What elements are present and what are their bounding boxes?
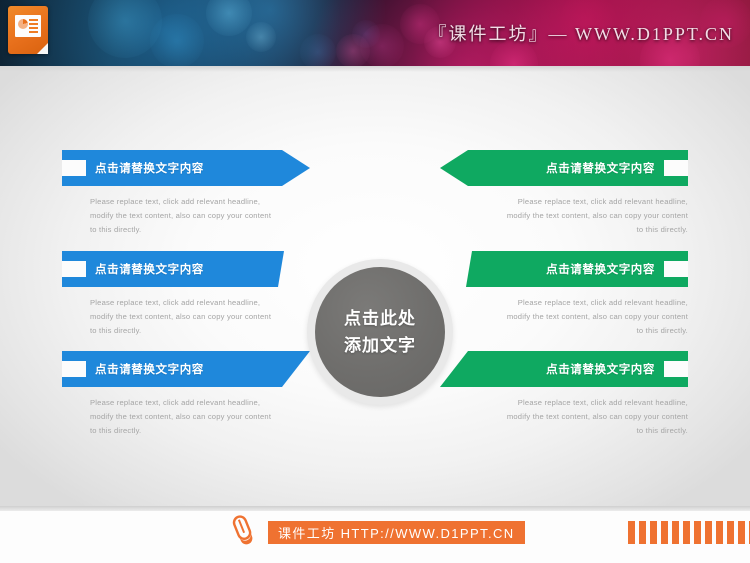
right-notch-1 (664, 160, 688, 176)
center-circle-ring: 点击此处 添加文字 (307, 259, 453, 405)
footer-stripes-decoration (628, 521, 750, 544)
footer-url-bar[interactable]: 课件工坊 HTTP://WWW.D1PPT.CN (268, 521, 525, 544)
footer-url-text: 课件工坊 HTTP://WWW.D1PPT.CN (278, 523, 515, 542)
logo-lines-icon (29, 19, 38, 33)
left-item-1[interactable]: 点击请替换文字内容 Please replace text, click add… (62, 150, 310, 237)
right-notch-3 (664, 361, 688, 377)
right-banner-1[interactable]: 点击请替换文字内容 (440, 150, 688, 186)
center-circle[interactable]: 点击此处 添加文字 (315, 267, 445, 397)
bokeh-decoration (206, 0, 252, 36)
left-banner-3[interactable]: 点击请替换文字内容 (62, 351, 310, 387)
bokeh-decoration (88, 0, 162, 58)
bokeh-decoration (336, 34, 370, 66)
powerpoint-logo-icon (8, 6, 48, 54)
right-banner-3[interactable]: 点击请替换文字内容 (440, 351, 688, 387)
right-desc-3: Please replace text, click add relevant … (506, 396, 688, 438)
bokeh-decoration (300, 34, 336, 66)
header-title: 『课件工坊』— WWW.D1PPT.CN (429, 20, 735, 46)
bokeh-decoration (360, 24, 404, 66)
bokeh-decoration (150, 14, 204, 66)
left-notch-3 (62, 361, 86, 377)
left-banner-1-label: 点击请替换文字内容 (95, 160, 204, 176)
right-notch-2 (664, 261, 688, 277)
left-banner-2-label: 点击请替换文字内容 (95, 261, 204, 277)
header-banner: 『课件工坊』— WWW.D1PPT.CN (0, 0, 750, 66)
logo-document-icon (15, 15, 41, 37)
right-banner-1-label: 点击请替换文字内容 (546, 160, 655, 176)
right-desc-2: Please replace text, click add relevant … (506, 296, 688, 338)
left-banner-1[interactable]: 点击请替换文字内容 (62, 150, 310, 186)
right-item-3[interactable]: 点击请替换文字内容 Please replace text, click add… (440, 351, 688, 438)
right-item-2[interactable]: 点击请替换文字内容 Please replace text, click add… (440, 251, 688, 338)
left-desc-1: Please replace text, click add relevant … (90, 195, 272, 237)
left-desc-3: Please replace text, click add relevant … (90, 396, 272, 438)
left-item-3[interactable]: 点击请替换文字内容 Please replace text, click add… (62, 351, 310, 438)
center-text-line1: 点击此处 (344, 305, 416, 332)
pen-icon (230, 513, 256, 547)
right-banner-2[interactable]: 点击请替换文字内容 (466, 251, 688, 287)
center-text-line2: 添加文字 (344, 332, 416, 359)
right-item-1[interactable]: 点击请替换文字内容 Please replace text, click add… (440, 150, 688, 237)
left-notch-1 (62, 160, 86, 176)
left-banner-2[interactable]: 点击请替换文字内容 (62, 251, 284, 287)
left-item-2[interactable]: 点击请替换文字内容 Please replace text, click add… (62, 251, 284, 338)
right-desc-1: Please replace text, click add relevant … (506, 195, 688, 237)
right-banner-3-label: 点击请替换文字内容 (546, 361, 655, 377)
left-notch-2 (62, 261, 86, 277)
left-desc-2: Please replace text, click add relevant … (90, 296, 272, 338)
left-banner-3-label: 点击请替换文字内容 (95, 361, 204, 377)
right-banner-2-label: 点击请替换文字内容 (546, 261, 655, 277)
slide-canvas: 『课件工坊』— WWW.D1PPT.CN 点击此处 添加文字 点击请替换文字内容… (0, 0, 750, 563)
slide-body: 点击此处 添加文字 点击请替换文字内容 Please replace text,… (0, 66, 750, 506)
bokeh-decoration (246, 22, 276, 52)
bokeh-decoration (352, 20, 380, 48)
